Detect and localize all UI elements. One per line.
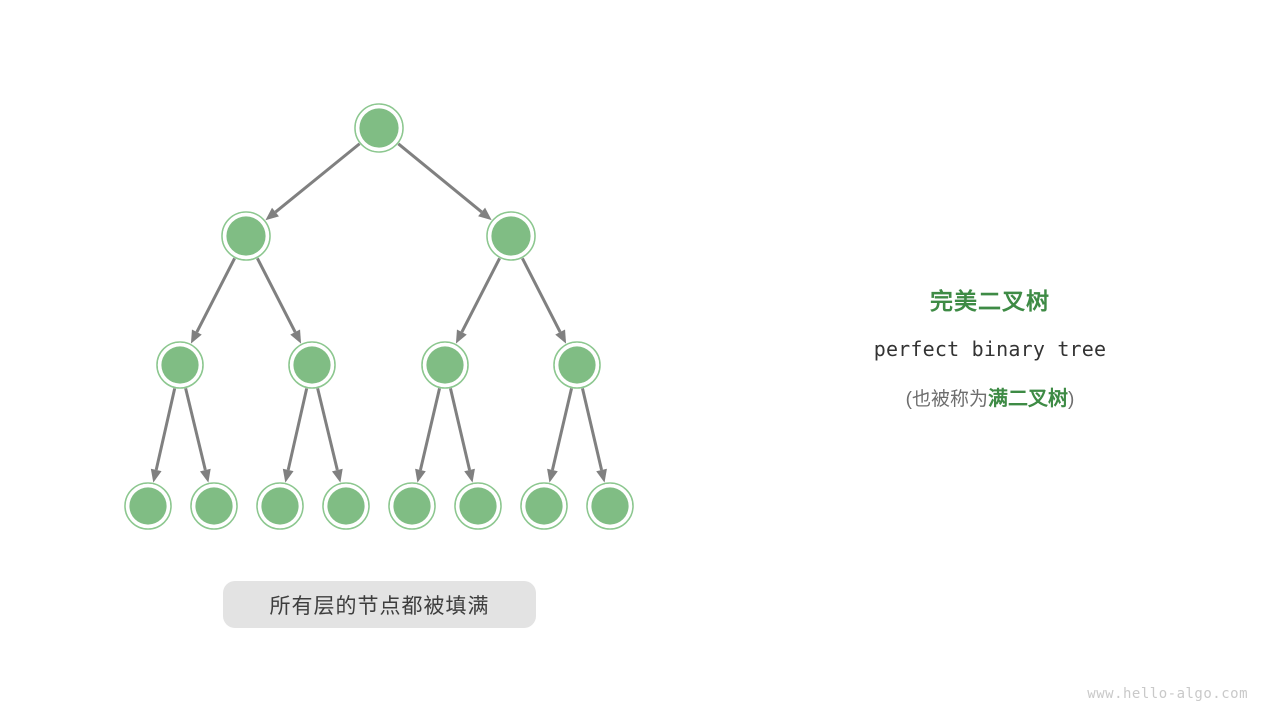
tree-edge	[415, 388, 439, 482]
tree-nodes	[125, 104, 633, 529]
tree-node	[422, 342, 468, 388]
tree-node	[323, 483, 369, 529]
alias-strong: 满二叉树	[988, 388, 1068, 410]
tree-node	[289, 342, 335, 388]
tree-edge	[547, 388, 571, 482]
tree-edge	[265, 144, 359, 220]
tree-node	[455, 483, 501, 529]
tree-node	[125, 483, 171, 529]
tree-edge	[318, 388, 343, 482]
legend-alias: (也被称为满二叉树)	[790, 382, 1190, 411]
alias-suffix: )	[1068, 389, 1074, 410]
tree-node	[257, 483, 303, 529]
tree-node	[355, 104, 403, 152]
tree-edge	[456, 258, 500, 343]
edge-arrowhead	[151, 469, 162, 483]
tree-edges	[151, 144, 607, 483]
edge-arrowhead	[200, 469, 211, 483]
caption-label: 所有层的节点都被填满	[270, 590, 490, 620]
edge-arrowhead	[464, 469, 475, 483]
tree-edge	[257, 258, 301, 343]
tree-node	[222, 212, 270, 260]
legend-block: 完美二叉树 perfect binary tree (也被称为满二叉树)	[790, 288, 1190, 411]
tree-edge	[151, 388, 175, 482]
tree-edge	[450, 388, 474, 482]
tree-edge	[398, 144, 491, 220]
tree-edge	[522, 258, 566, 343]
edge-arrowhead	[332, 469, 343, 483]
tree-node	[521, 483, 567, 529]
caption-badge: 所有层的节点都被填满	[223, 581, 536, 628]
edge-arrowhead	[547, 469, 558, 483]
tree-node	[191, 483, 237, 529]
edge-arrowhead	[283, 469, 294, 483]
watermark: www.hello-algo.com	[1087, 686, 1248, 702]
tree-node	[587, 483, 633, 529]
legend-title-cn: 完美二叉树	[790, 288, 1190, 316]
edge-arrowhead	[415, 469, 426, 483]
tree-node	[157, 342, 203, 388]
edge-arrowhead	[596, 469, 607, 483]
tree-edge	[186, 388, 211, 482]
tree-node	[389, 483, 435, 529]
diagram-canvas: 完美二叉树 perfect binary tree (也被称为满二叉树) 所有层…	[0, 0, 1280, 720]
tree-edge	[283, 388, 307, 482]
tree-edge	[191, 258, 235, 343]
tree-node	[554, 342, 600, 388]
alias-prefix: (也被称为	[906, 389, 988, 410]
tree-edge	[582, 388, 606, 482]
legend-title-en: perfect binary tree	[790, 337, 1190, 361]
tree-node	[487, 212, 535, 260]
